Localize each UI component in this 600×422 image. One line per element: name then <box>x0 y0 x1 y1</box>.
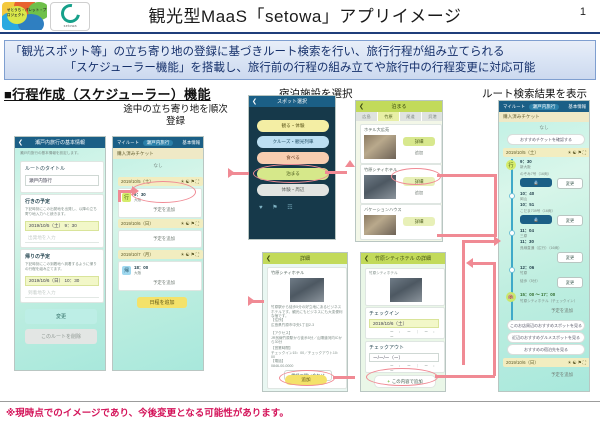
hotel-thumbnail <box>364 215 396 235</box>
route-title-label: ルートのタイトル <box>25 165 65 172</box>
leg-place: 岡山 <box>520 197 527 202</box>
departure-hint: 下記時刻にこの出発地を出発し、以降の立ち寄り地入力へと続きます。 <box>25 207 99 216</box>
leg-time-2: 11：30 <box>520 239 534 244</box>
basic-info-pill[interactable]: 基本情報 <box>568 104 586 110</box>
annotation-arrow-shaft <box>118 190 121 202</box>
category-button-see[interactable]: 観る・体験 <box>257 120 329 132</box>
category-label: 観る・体験 <box>282 123 305 129</box>
add-day-button[interactable]: 日程を追加 <box>137 297 187 308</box>
itinerary-titlebar: マイルート 瀬戸内旅行 基本情報 <box>113 137 203 148</box>
logo-group: せとうち・パレット・プロジェクト setowa <box>2 1 90 31</box>
return-datetime-input[interactable]: 2019/10/6（日） 10：30 <box>25 276 99 286</box>
timeline-dot <box>509 193 515 199</box>
leg-time: 12：06 <box>520 265 534 270</box>
hotel-field-value: 広島県竹原市中央1丁目2-3 <box>271 323 343 328</box>
purchased-ticket-label: 購入済みチケット <box>113 148 204 159</box>
checkin-label: チェックイン <box>369 310 399 317</box>
entry-badge: 帰 <box>122 266 131 275</box>
tab-takehara[interactable]: 竹原 <box>378 112 400 121</box>
route-entry-badge: 行 <box>506 160 516 170</box>
tab-hiroshima[interactable]: 広島 <box>356 112 378 121</box>
confirm-button[interactable]: 変更 <box>25 309 97 324</box>
screen-basic-info: ❮ 瀬戸内旅行の基本情報 瀬戸内旅行の基本情報を設定します。 ルートのタイトル … <box>14 136 106 371</box>
leg-place: 三原 <box>520 234 527 239</box>
route-next-date: 2019/10/6（日） <box>506 360 539 366</box>
annotation-arrow-hotel-down <box>494 174 497 236</box>
hotel-photo <box>290 278 324 302</box>
annotation-ellipse-stay <box>253 164 329 183</box>
hotel-reserve-titlebar: ❮ 竹原シティホテル の詳細 <box>361 253 445 264</box>
hotel-list-title: 泊まる <box>391 103 406 110</box>
area-tabs: 広島 竹原 尾道 呉港 <box>356 112 443 121</box>
add-plan-button[interactable]: 予定を追加 <box>541 371 583 379</box>
back-chevron-icon[interactable]: ❮ <box>359 103 364 110</box>
route-day-header: 2019/10/5（土） ☀☯⚑⛶ <box>503 148 590 157</box>
annotation-arrow-route-in-h <box>462 240 496 243</box>
route-timeline <box>511 159 513 329</box>
step-note: 途中の立ち寄り地を順次登録 <box>123 104 228 128</box>
change-button[interactable]: 変更 <box>557 252 583 263</box>
route-title: 瀬戸内旅行 <box>529 104 560 110</box>
checkout-label: チェックアウト <box>369 344 404 351</box>
tab-kure[interactable]: 呉港 <box>422 112 443 121</box>
back-chevron-icon[interactable]: ❮ <box>252 98 257 105</box>
page-title: 観光型MaaS「setowa」アプリイメージ <box>95 2 515 27</box>
annotation-arrow-head <box>345 160 355 167</box>
hotel-detail-button[interactable]: 詳細 <box>403 137 435 146</box>
route-date: 2019/10/5（土） <box>506 150 539 156</box>
purchased-ticket-label: 購入済みチケット <box>499 112 590 122</box>
day-date: 2019/10/7（月） <box>121 252 154 258</box>
annotation-ellipse-add-plan <box>130 181 196 203</box>
screen-route-result: マイルート 瀬戸内旅行 基本情報 購入済みチケット なし おすすめチケットを確認… <box>498 100 590 392</box>
annotation-ellipse-hotel-detail <box>391 168 441 185</box>
day-icon-group: ☀☯⚑⛶ <box>180 252 200 258</box>
route-next-day-header: 2019/10/6（日） ☀☯⚑⛶ <box>503 358 590 367</box>
leg-place: 新大阪 <box>520 165 531 170</box>
route-title-input[interactable]: 瀬戸内旅行 <box>25 175 99 186</box>
change-button[interactable]: 変更 <box>557 178 583 189</box>
hotel-stay-badge: 🏨 <box>506 292 516 302</box>
entry-badge: 行 <box>122 193 131 202</box>
leg-time-2: 10：51 <box>520 202 534 207</box>
leg-line: のぞみ7号（16両） <box>520 172 551 177</box>
spot-select-footer-icons: ♥ ⚑ ☶ <box>259 204 297 211</box>
section-heading-scheduler: ■行程作成（スケジューラー）機能 <box>4 84 211 103</box>
hotel-name: 竹原シティホテル <box>369 271 398 276</box>
train-chip-icon: 🚆 <box>520 178 552 187</box>
category-label: 体験・周辺 <box>282 187 305 193</box>
change-button[interactable]: 変更 <box>557 277 583 288</box>
description-line-1: 「観光スポット等」の立ち寄り地の登録に基づきルート検索を行い、旅行行程が組み立て… <box>10 44 590 60</box>
palette-logo-text: せとうち・パレット・プロジェクト <box>7 8 47 18</box>
setowa-logo-text: setowa <box>64 24 77 28</box>
annotation-arrow-reserve-right <box>435 375 495 378</box>
itinerary-entry-card: 帰 18：00 大阪 予定を追加 <box>118 261 202 291</box>
basic-info-titlebar: ❮ 瀬戸内旅行の基本情報 <box>15 137 105 148</box>
annotation-arrow-head <box>494 236 501 246</box>
description-box: 「観光スポット等」の立ち寄り地の登録に基づきルート検索を行い、旅行行程が組み立て… <box>4 40 596 80</box>
hotel-info-titlebar: ❮ 詳細 <box>263 253 347 264</box>
return-hint: 下記時刻にこの到着地へ到着するように帰りの行程を組み立てます。 <box>25 262 99 271</box>
leg-line: 徒歩（5分） <box>520 279 540 284</box>
spot-select-title: スポット選択 <box>277 98 307 105</box>
checkin-date-input[interactable]: 2019/10/6（土） <box>369 319 439 328</box>
hotel-name: 竹原シティホテル <box>364 167 397 172</box>
itinerary-title: 瀬戸内旅行 <box>143 140 174 146</box>
back-chevron-icon[interactable]: ❮ <box>364 255 369 262</box>
hotel-name: ホテル大広苑 <box>364 127 389 132</box>
hotel-list-titlebar: ❮ 泊まる <box>356 101 442 112</box>
day-icon-group: ☀☯⚑⛶ <box>567 360 587 366</box>
hotel-thumbnail <box>364 135 396 159</box>
leg-place: 竹原 <box>520 271 527 276</box>
hotel-stay-time: 15：00 ～ 17：00 <box>520 292 555 297</box>
entry-place: 大阪 <box>134 271 141 276</box>
description-line-2: 「スケジューラー機能」を搭載し、旅行前の行程の組み立てや旅行中の行程変更に対応可… <box>10 60 590 76</box>
hotel-name: バケーションハウス <box>364 207 402 212</box>
route-title-card: ルートのタイトル 瀬戸内旅行 <box>20 161 104 193</box>
my-route-pill[interactable]: マイルート <box>117 140 139 146</box>
train-chip-icon: 🚆 <box>520 215 552 224</box>
hotel-reserve-title: 竹原シティホテル の詳細 <box>375 255 431 262</box>
day-icon-group: ☀☯⚑⛶ <box>567 150 587 156</box>
hotel-field-value: 0846-00-0000 <box>271 364 343 369</box>
itinerary-day-header[interactable]: 2019/10/6（日） ☀☯⚑⛶ <box>118 219 203 228</box>
setouchi-palette-logo: せとうち・パレット・プロジェクト <box>2 2 47 30</box>
annotation-arrow-spot-out <box>325 171 347 174</box>
departure-datetime-input[interactable]: 2019/10/5（土） 9：30 <box>25 221 99 231</box>
hotel-photo <box>390 278 422 302</box>
add-plan-button[interactable]: 予定を追加 <box>541 307 583 315</box>
departure-place-input[interactable]: 出発地を入力 <box>25 234 99 243</box>
timeline-dot <box>509 230 515 236</box>
hotel-stay-name: 竹原シティホテル（チェックイン） <box>520 299 577 304</box>
back-chevron-icon[interactable]: ❮ <box>266 255 271 262</box>
hotel-name: 竹原シティホテル <box>271 270 304 275</box>
leg-time: 11：04 <box>520 228 534 233</box>
itinerary-entry-card: 予定を追加 <box>118 230 202 248</box>
add-plan-button[interactable]: 予定を追加 <box>141 235 187 243</box>
category-button-experience[interactable]: 体験・周辺 <box>257 184 329 196</box>
leg-line: 呉線直通（広行）（16両） <box>520 246 562 251</box>
add-plan-button[interactable]: 予定を追加 <box>141 206 187 214</box>
screen-itinerary: マイルート 瀬戸内旅行 基本情報 購入済みチケット なし 2019/10/5（土… <box>112 136 204 371</box>
timeline-dot <box>509 267 515 273</box>
day-date: 2019/10/6（日） <box>121 221 154 227</box>
hotel-info-title: 詳細 <box>300 255 310 262</box>
hotel-add-button[interactable]: 追加 <box>405 149 433 157</box>
day-icon-group: ☀☯⚑⛶ <box>180 221 200 227</box>
footer-divider <box>0 401 600 402</box>
category-label: 食べる <box>286 155 300 161</box>
page-number: 1 <box>580 6 586 18</box>
itinerary-day-header[interactable]: 2019/10/7（月） ☀☯⚑⛶ <box>118 250 203 259</box>
header-divider <box>0 32 600 34</box>
suggest-spots-button[interactable]: このお店周辺のおすすめスポットを見る <box>507 320 585 331</box>
leg-time: 9：30 <box>520 159 532 164</box>
basic-info-title: 瀬戸内旅行の基本情報 <box>35 139 85 146</box>
checkout-date-input[interactable]: ー/ー/ー（ー） <box>369 353 439 362</box>
hotel-field-value: JR呉線竹原駅から徒歩5分／山陽道河内ICから30分 <box>271 336 343 345</box>
back-chevron-icon[interactable]: ❮ <box>18 139 23 146</box>
slide-root: せとうち・パレット・プロジェクト setowa 観光型MaaS「setowa」ア… <box>0 0 600 422</box>
tab-onomichi[interactable]: 尾道 <box>400 112 422 121</box>
hotel-detail-button[interactable]: 詳細 <box>403 217 435 226</box>
category-button-eat[interactable]: 食べる <box>257 152 329 164</box>
annotation-arrow-head <box>132 186 139 196</box>
ticket-none-text: なし <box>499 125 589 131</box>
hotel-list-item[interactable]: バケーションハウス 詳細 <box>360 204 442 240</box>
annotation-arrow-reserve-into-route <box>470 262 495 265</box>
category-label: クルーズ・観光列車 <box>273 139 314 145</box>
annotation-arrow-to-reserve <box>333 376 355 379</box>
setowa-logo: setowa <box>50 2 90 31</box>
hotel-list-item[interactable]: ホテル大広苑 詳細 追加 <box>360 124 442 164</box>
delete-route-button[interactable]: このルートを削除 <box>25 329 97 344</box>
suggest-gourmet-button[interactable]: 近辺のおすすめグルメスポットを見る <box>507 332 585 343</box>
annotation-arrow-reserve-up <box>493 262 496 376</box>
section-heading-route: ルート検索結果を表示 <box>482 86 587 101</box>
annotation-ellipse-add <box>279 370 335 386</box>
leg-line: こだま739号（16両） <box>520 209 555 214</box>
checkin-card: チェックイン 2019/10/6（土） ー ： ー ｜ ー ： ー <box>365 307 445 339</box>
hotel-add-button[interactable]: 追加 <box>405 189 433 197</box>
annotation-ellipse-add-content <box>366 368 438 386</box>
annotation-arrow-hotel-left <box>437 234 497 237</box>
return-label: 帰りの予定 <box>25 253 50 260</box>
ticket-none-text: なし <box>113 163 203 169</box>
basic-info-pill[interactable]: 基本情報 <box>182 140 200 146</box>
annotation-arrow-head <box>466 258 473 268</box>
change-button[interactable]: 変更 <box>557 215 583 226</box>
departure-label: 行きの予定 <box>25 198 50 205</box>
checkin-time-steppers[interactable]: ー ： ー ｜ ー ： ー <box>390 330 444 339</box>
setowa-ring-icon <box>57 0 83 26</box>
leg-time: 10：40 <box>520 191 534 196</box>
recommend-ticket-button[interactable]: おすすめチケットを確認する <box>507 134 585 145</box>
footer-note: ※現時点でのイメージであり、今後変更となる可能性があります。 <box>6 405 289 419</box>
annotation-arrow-route-in <box>462 240 465 365</box>
my-route-pill[interactable]: マイルート <box>503 104 525 110</box>
return-card: 帰りの予定 下記時刻にこの到着地へ到着するように帰りの行程を組み立てます。 20… <box>20 249 104 303</box>
basic-info-intro: 瀬戸内旅行の基本情報を設定します。 <box>20 151 102 156</box>
suggest-hotels-button[interactable]: おすすめの宿泊先を見る <box>507 344 585 355</box>
departure-card: 行きの予定 下記時刻にこの出発地を出発し、以降の立ち寄り地入力へと続きます。 2… <box>20 194 104 248</box>
add-plan-button[interactable]: 予定を追加 <box>141 279 187 287</box>
annotation-arrow-head <box>248 296 255 306</box>
annotation-arrow-head <box>228 168 235 178</box>
hotel-photo-card: 竹原シティホテル <box>365 268 445 306</box>
hotel-description: 竹原駅から徒歩5分の好立地にあるビジネスホテルです。観光にもビジネスにも大変便利… <box>271 305 343 319</box>
route-titlebar: マイルート 瀬戸内旅行 基本情報 <box>499 101 589 112</box>
annotation-arrow-hotel-right <box>437 174 497 177</box>
category-button-cruise[interactable]: クルーズ・観光列車 <box>257 136 329 148</box>
return-place-input[interactable]: 到着地を入力 <box>25 289 99 298</box>
spot-select-titlebar: ❮ スポット選択 <box>249 96 335 107</box>
entry-time: 18：00 <box>134 265 148 270</box>
